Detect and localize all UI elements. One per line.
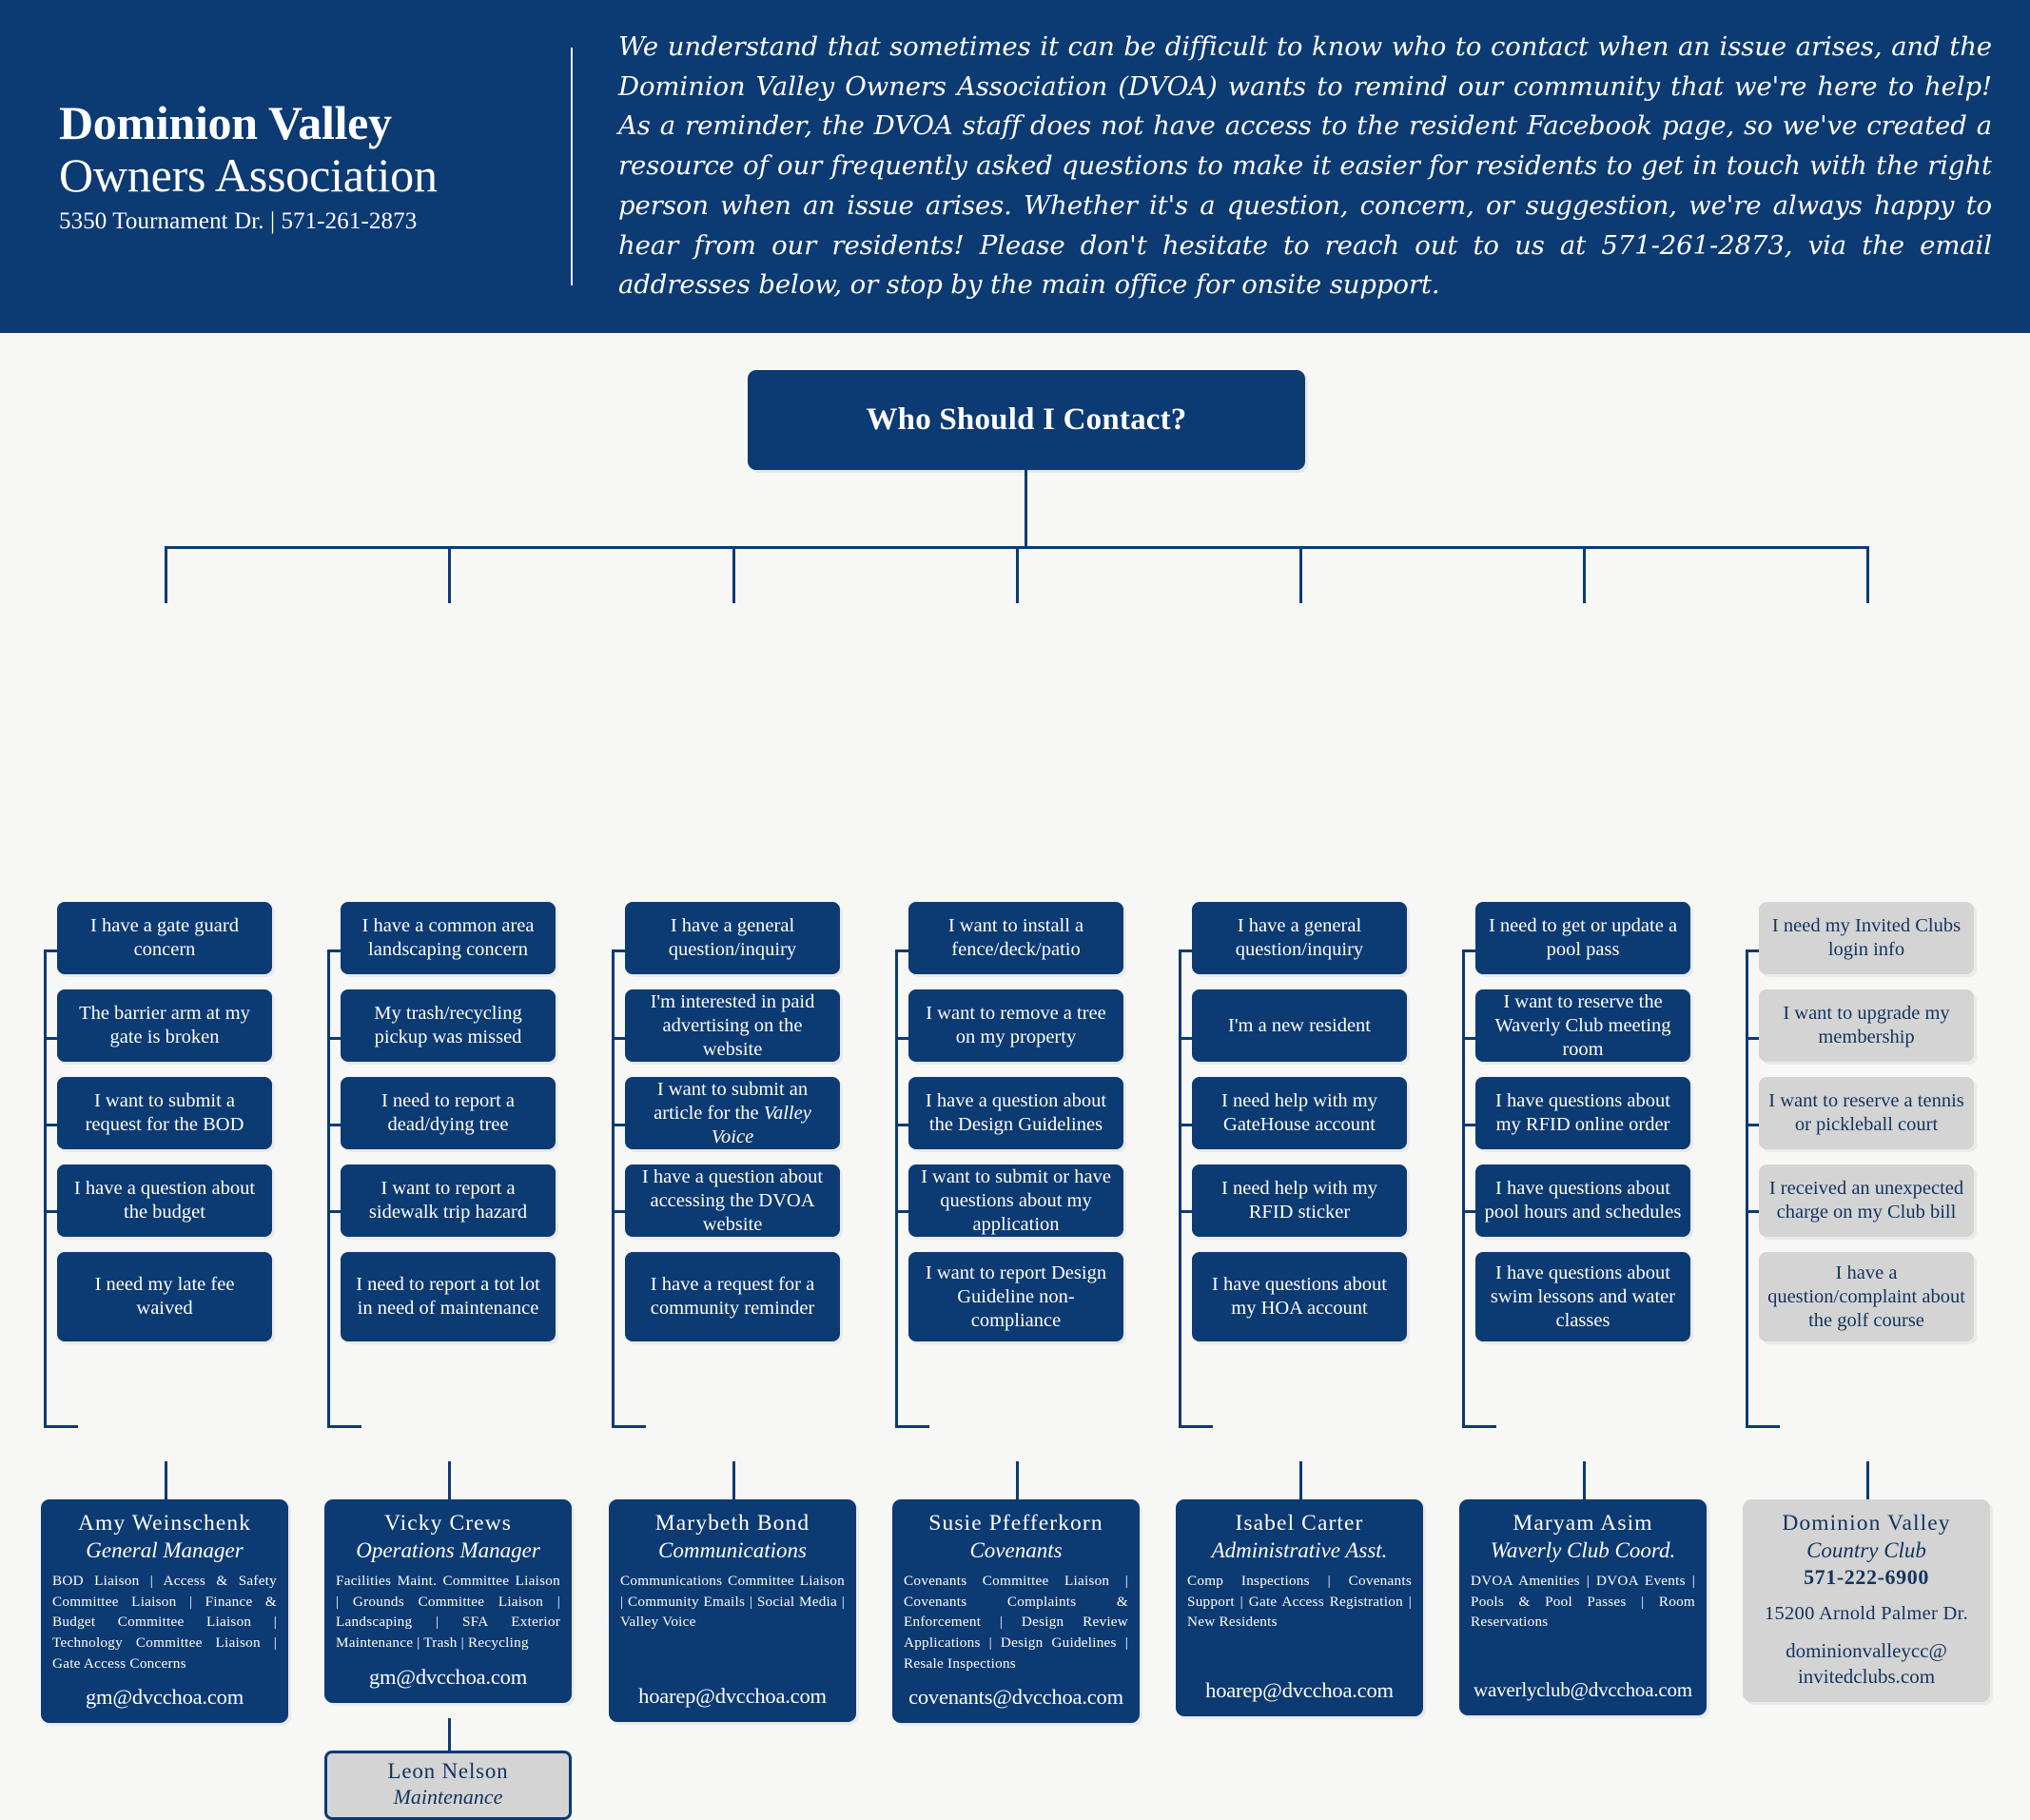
brand-address-phone: 5350 Tournament Dr. | 571-261-2873	[59, 208, 571, 235]
question-label: The barrier arm at my gate is broken	[66, 1002, 264, 1049]
contact-email[interactable]: waverlyclub@dvcchoa.com	[1471, 1678, 1695, 1702]
column-stub-4-5	[895, 1425, 929, 1428]
column-stub-7-5	[1746, 1425, 1780, 1428]
contact-phone[interactable]: 571-222-6900	[1754, 1565, 1979, 1590]
contact-role: Operations Manager	[336, 1537, 560, 1564]
question-label: I have a common area landscaping concern	[349, 914, 547, 962]
question-box[interactable]: I have a request for a community reminde…	[625, 1252, 840, 1341]
question-label: I have questions about pool hours and sc…	[1484, 1177, 1682, 1224]
branch-column-5: I have a general question/inquiry I'm a …	[1192, 902, 1407, 1357]
column-card-connector-7	[1866, 1461, 1869, 1499]
question-box[interactable]: I want to reserve the Waverly Club meeti…	[1475, 989, 1690, 1062]
column-spine-2	[327, 949, 330, 1425]
column-card-connector-4	[1016, 1461, 1019, 1499]
question-box[interactable]: I have a general question/inquiry	[1192, 902, 1407, 974]
contact-email[interactable]: covenants@dvcchoa.com	[904, 1685, 1128, 1710]
question-label: I want to remove a tree on my property	[917, 1002, 1115, 1049]
contact-role: General Manager	[52, 1537, 277, 1564]
question-label: I have questions about my HOA account	[1200, 1273, 1398, 1321]
column-drop-connector-7	[1866, 546, 1869, 603]
contact-role: Waverly Club Coord.	[1471, 1537, 1695, 1564]
question-label: I have a question about accessing the DV…	[634, 1165, 831, 1237]
branch-column-6: I need to get or update a pool pass I wa…	[1475, 902, 1690, 1357]
branch-column-2: I have a common area landscaping concern…	[341, 902, 556, 1357]
column-stub-2-5	[327, 1425, 361, 1428]
question-box[interactable]: I want to report Design Guideline non-co…	[908, 1252, 1123, 1341]
column-card-connector-3	[732, 1461, 735, 1499]
contact-duties: Communications Committee Liaison | Commu…	[620, 1571, 845, 1633]
question-box[interactable]: I'm a new resident	[1192, 989, 1407, 1062]
question-label: I want to install a fence/deck/patio	[917, 914, 1115, 962]
brand-block: Dominion Valley Owners Association 5350 …	[0, 98, 571, 235]
question-box[interactable]: I want to submit an article for the Vall…	[625, 1077, 840, 1149]
question-box[interactable]: I have questions about swim lessons and …	[1475, 1252, 1690, 1341]
question-box[interactable]: I need to report a tot lot in need of ma…	[341, 1252, 556, 1341]
question-label: I want to reserve a tennis or pickleball…	[1767, 1089, 1965, 1137]
question-label: My trash/recycling pickup was missed	[349, 1002, 547, 1049]
question-box[interactable]: I want to upgrade my membership	[1759, 989, 1974, 1062]
question-box[interactable]: I received an unexpected charge on my Cl…	[1759, 1164, 1974, 1237]
contact-card[interactable]: Isabel Carter Administrative Asst. Comp …	[1176, 1499, 1423, 1716]
column-card-connector-1	[165, 1461, 167, 1499]
branch-column-7: I need my Invited Clubs login info I wan…	[1759, 902, 1974, 1357]
root-node-who-should-i-contact: Who Should I Contact?	[748, 370, 1305, 470]
contact-name: Susie Pfefferkorn	[904, 1511, 1128, 1537]
column-spine-1	[44, 949, 47, 1425]
contact-card[interactable]: Dominion Valley Country Club 571-222-690…	[1743, 1499, 1990, 1702]
column-spine-4	[895, 949, 898, 1425]
column-drop-connector-1	[165, 546, 167, 603]
column-stub-3-5	[612, 1425, 646, 1428]
brand-title-line1: Dominion Valley	[59, 98, 571, 148]
branch-column-1: I have a gate guard concern The barrier …	[57, 902, 272, 1357]
question-box[interactable]: I need to report a dead/dying tree	[341, 1077, 556, 1149]
question-label: I need help with my RFID sticker	[1200, 1177, 1398, 1224]
contact-card[interactable]: Susie Pfefferkorn Covenants Covenants Co…	[892, 1499, 1140, 1723]
question-box[interactable]: I have a general question/inquiry	[625, 902, 840, 974]
sub-contact-name: Leon Nelson	[335, 1759, 561, 1785]
question-label: I want to submit or have questions about…	[917, 1165, 1115, 1237]
question-label: I want to upgrade my membership	[1767, 1002, 1965, 1049]
question-label: I want to report Design Guideline non-co…	[917, 1262, 1115, 1333]
question-box[interactable]: I have a question about the Design Guide…	[908, 1077, 1123, 1149]
column-drop-connector-4	[1016, 546, 1019, 603]
contact-email[interactable]: dominionvalleycc@ invitedclubs.com	[1754, 1638, 1979, 1689]
contact-email[interactable]: hoarep@dvcchoa.com	[1187, 1678, 1412, 1703]
sub-contact-role: Maintenance	[335, 1785, 561, 1810]
contact-role: Administrative Asst.	[1187, 1537, 1412, 1564]
contact-card[interactable]: Maryam Asim Waverly Club Coord. DVOA Ame…	[1459, 1499, 1707, 1715]
contact-name: Marybeth Bond	[620, 1511, 845, 1537]
question-box[interactable]: My trash/recycling pickup was missed	[341, 989, 556, 1062]
sub-node-connector-2	[448, 1718, 451, 1751]
question-box[interactable]: I need to get or update a pool pass	[1475, 902, 1690, 974]
question-label: I want to report a sidewalk trip hazard	[349, 1177, 547, 1224]
question-label: I need my late fee waived	[66, 1273, 264, 1321]
column-spine-5	[1179, 949, 1181, 1425]
question-label: I have questions about my RFID online or…	[1484, 1089, 1682, 1137]
header-band: Dominion Valley Owners Association 5350 …	[0, 0, 2030, 333]
question-box[interactable]: I want to install a fence/deck/patio	[908, 902, 1123, 974]
question-label: I want to reserve the Waverly Club meeti…	[1484, 990, 1682, 1062]
column-spine-6	[1462, 949, 1465, 1425]
question-box[interactable]: I want to submit or have questions about…	[908, 1164, 1123, 1237]
question-box[interactable]: I need help with my GateHouse account	[1192, 1077, 1407, 1149]
contact-role: Communications	[620, 1537, 845, 1564]
question-label: I have questions about swim lessons and …	[1484, 1262, 1682, 1333]
question-label: I received an unexpected charge on my Cl…	[1767, 1177, 1965, 1224]
question-label: I have a question about the budget	[66, 1177, 264, 1224]
column-drop-connector-2	[448, 546, 451, 603]
org-chart-canvas: Who Should I Contact?	[0, 333, 2030, 1522]
question-label: I have a general question/inquiry	[634, 914, 831, 962]
question-box[interactable]: I need my late fee waived	[57, 1252, 272, 1341]
question-label: I have a question about the Design Guide…	[917, 1089, 1115, 1137]
column-spine-7	[1746, 949, 1748, 1425]
question-box[interactable]: I want to reserve a tennis or pickleball…	[1759, 1077, 1974, 1149]
column-stub-5-5	[1179, 1425, 1213, 1428]
question-label: I have a request for a community reminde…	[634, 1273, 831, 1321]
question-label: I have a gate guard concern	[66, 914, 264, 962]
contact-duties: Comp Inspections | Covenants Support | G…	[1187, 1571, 1412, 1633]
question-box[interactable]: I need my Invited Clubs login info	[1759, 902, 1974, 974]
contact-card[interactable]: Vicky Crews Operations Manager Facilitie…	[324, 1499, 572, 1703]
contact-name: Amy Weinschenk	[52, 1511, 277, 1537]
contact-card[interactable]: Amy Weinschenk General Manager BOD Liais…	[41, 1499, 288, 1723]
column-spine-3	[612, 949, 615, 1425]
question-box[interactable]: I have a question about the budget	[57, 1164, 272, 1237]
contact-email[interactable]: hoarep@dvcchoa.com	[620, 1684, 845, 1709]
column-card-connector-5	[1299, 1461, 1302, 1499]
question-label: I'm interested in paid advertising on th…	[634, 990, 831, 1062]
brand-title-line2: Owners Association	[59, 148, 571, 202]
root-trunk-connector	[1025, 470, 1027, 548]
column-drop-connector-5	[1299, 546, 1302, 603]
contact-email[interactable]: gm@dvcchoa.com	[336, 1665, 560, 1690]
question-label: I want to submit a request for the BOD	[66, 1089, 264, 1137]
contact-duties: DVOA Amenities | DVOA Events | Pools & P…	[1471, 1571, 1695, 1633]
contact-duties: BOD Liaison | Access & Safety Committee …	[52, 1571, 277, 1673]
question-label: I need to get or update a pool pass	[1484, 914, 1682, 962]
question-box[interactable]: I have a question/complaint about the go…	[1759, 1252, 1974, 1341]
question-box[interactable]: I want to report a sidewalk trip hazard	[341, 1164, 556, 1237]
contact-name: Dominion Valley	[1754, 1511, 1979, 1537]
contact-duties: Covenants Committee Liaison | Covenants …	[904, 1571, 1128, 1673]
column-drop-connector-6	[1583, 546, 1586, 603]
question-label: I have a question/complaint about the go…	[1767, 1262, 1965, 1333]
question-box[interactable]: I have questions about my HOA account	[1192, 1252, 1407, 1341]
question-box[interactable]: I'm interested in paid advertising on th…	[625, 989, 840, 1062]
contact-role: Covenants	[904, 1537, 1128, 1564]
contact-name: Isabel Carter	[1187, 1511, 1412, 1537]
branch-column-4: I want to install a fence/deck/patio I w…	[908, 902, 1123, 1357]
contact-address: 15200 Arnold Palmer Dr.	[1754, 1603, 1979, 1625]
question-box[interactable]: I want to remove a tree on my property	[908, 989, 1123, 1062]
question-label: I want to submit an article for the Vall…	[634, 1078, 831, 1149]
contact-card[interactable]: Marybeth Bond Communications Communicati…	[609, 1499, 856, 1722]
column-stub-6-5	[1462, 1425, 1496, 1428]
contact-name: Vicky Crews	[336, 1511, 560, 1537]
question-box[interactable]: I have a common area landscaping concern	[341, 902, 556, 974]
question-label: I need to report a tot lot in need of ma…	[349, 1273, 547, 1321]
question-box[interactable]: I want to submit a request for the BOD	[57, 1077, 272, 1149]
contact-email[interactable]: gm@dvcchoa.com	[52, 1685, 277, 1710]
question-box[interactable]: I have a question about accessing the DV…	[625, 1164, 840, 1237]
column-card-connector-2	[448, 1461, 451, 1499]
question-label: I need to report a dead/dying tree	[349, 1089, 547, 1137]
column-card-connector-6	[1583, 1461, 1586, 1499]
column-stub-1-5	[44, 1425, 78, 1428]
question-box[interactable]: I have questions about pool hours and sc…	[1475, 1164, 1690, 1237]
question-box[interactable]: I have a gate guard concern	[57, 902, 272, 974]
sub-contact-node[interactable]: Leon Nelson Maintenance	[324, 1751, 572, 1820]
branch-column-3: I have a general question/inquiry I'm in…	[625, 902, 840, 1357]
intro-paragraph: We understand that sometimes it can be d…	[573, 28, 2030, 306]
question-box[interactable]: The barrier arm at my gate is broken	[57, 989, 272, 1062]
question-box[interactable]: I have questions about my RFID online or…	[1475, 1077, 1690, 1149]
question-label: I need my Invited Clubs login info	[1767, 914, 1965, 962]
question-label: I'm a new resident	[1228, 1014, 1371, 1038]
question-box[interactable]: I need help with my RFID sticker	[1192, 1164, 1407, 1237]
contact-name: Maryam Asim	[1471, 1511, 1695, 1537]
header-vertical-divider	[571, 48, 573, 285]
contact-duties: Facilities Maint. Committee Liaison | Gr…	[336, 1571, 560, 1653]
question-label: I need help with my GateHouse account	[1200, 1089, 1398, 1137]
question-label: I have a general question/inquiry	[1200, 914, 1398, 962]
contact-role: Country Club	[1754, 1537, 1979, 1564]
column-drop-connector-3	[732, 546, 735, 603]
